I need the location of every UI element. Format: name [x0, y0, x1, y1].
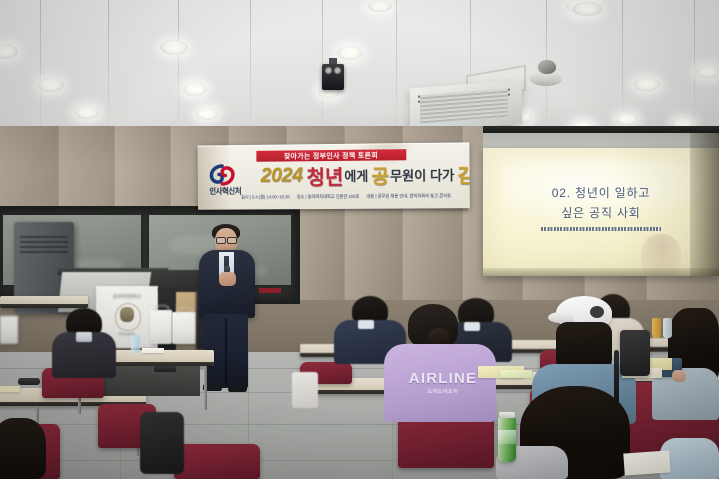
recessed-downlight: [196, 108, 218, 120]
ceiling-speaker: [538, 60, 556, 74]
screen-bottom-edge: [483, 268, 719, 276]
bottle-cap: [499, 412, 515, 418]
attendee-hand: [672, 370, 686, 382]
gift-bag-handle: [178, 307, 193, 314]
recessed-downlight: [160, 40, 188, 55]
banner-title-particle: 에게: [344, 165, 368, 184]
recessed-downlight: [75, 106, 99, 119]
bag-strap: [614, 350, 619, 406]
recessed-downlight: [0, 44, 18, 59]
banner-subtitle-text: 찾아가는 정부인사 정책 토론회: [284, 150, 378, 161]
ceiling-projector: [322, 64, 344, 90]
recessed-downlight: [616, 114, 638, 125]
attendee-collar: [76, 332, 92, 342]
banner-title-youth: 청년: [306, 160, 343, 189]
banner-title-gong: 공: [371, 161, 389, 188]
slide-title-line2: 싶은 공직 사회: [483, 204, 719, 221]
lecture-hall-photo: 찾아가는 정부인사 정책 토론회 2024 청년 에게 공 무원이 다가 감 일…: [0, 0, 719, 479]
banner-title-rest: 무원이 다가: [390, 164, 455, 184]
banner-title-gam: 감: [457, 160, 470, 187]
banner-title-year: 2024: [260, 164, 302, 187]
handout-paper: [500, 370, 532, 378]
drink-bottle: [663, 318, 672, 338]
banner-detail-content: 내용 | 공무원 채용 안내, 현직자와의 토크 콘서트: [366, 192, 451, 200]
gift-bag: [0, 316, 18, 344]
banner-details: 일시 | 5.4.(월) 14:00~15:30 장소 | 동덕여자대학교 인문…: [241, 191, 468, 202]
event-banner: 찾아가는 정부인사 정책 토론회 2024 청년 에게 공 무원이 다가 감 일…: [197, 142, 469, 209]
recessed-downlight: [337, 46, 363, 60]
handout-paper: [142, 348, 164, 353]
recessed-downlight: [696, 66, 719, 78]
presenter-shoe: [228, 385, 247, 392]
handbag: [620, 330, 650, 376]
jacket-text: AIRLINE: [402, 370, 484, 387]
smartphone: [154, 366, 176, 372]
recessed-downlight: [183, 83, 207, 96]
drink-bottle: [652, 318, 661, 338]
gift-bag: [150, 310, 172, 344]
org-name: 인사혁신처: [204, 185, 247, 197]
ceiling-speaker-skirt: [530, 72, 562, 86]
handout-paper: [0, 386, 20, 392]
recessed-downlight: [572, 2, 602, 16]
screen-housing: [483, 126, 719, 133]
banner-detail-datetime: 일시 | 5.4.(월) 14:00~15:30: [241, 193, 290, 200]
attendee-collar: [464, 322, 480, 331]
desk-leg: [204, 366, 207, 410]
recessed-downlight: [368, 0, 392, 12]
water-bottle: [131, 335, 140, 353]
bottle-label: [498, 430, 516, 444]
recessed-downlight: [38, 78, 64, 92]
backpack: [140, 412, 184, 474]
tote-bag: [292, 372, 318, 408]
jacket-subtext: 도어도어도어: [412, 388, 474, 395]
desk: [0, 296, 88, 308]
attendee-collar: [358, 320, 374, 329]
slide-title-line1: 02. 청년이 일하고: [483, 184, 719, 201]
banner-title: 2024 청년 에게 공 무원이 다가 감: [217, 159, 470, 190]
taegeuk-logo: [209, 164, 235, 186]
cap-back-hole: [590, 306, 604, 318]
chair: [174, 444, 260, 479]
trouser-seam: [225, 318, 227, 384]
ceiling: [0, 0, 719, 132]
university-crest-inner: [120, 307, 134, 322]
screen-side-wall: [690, 133, 719, 276]
gift-bag-handle: [155, 305, 169, 312]
banner-detail-place: 장소 | 동덕여자대학교 인문관 205호: [297, 193, 360, 200]
projection-screen: 02. 청년이 일하고 싶은 공직 사회: [483, 148, 719, 276]
glasses-icon: [216, 237, 236, 242]
gift-bag: [172, 312, 196, 344]
slide-caption-underline: [541, 227, 661, 231]
attendee-hair: [0, 418, 46, 479]
smartphone: [18, 378, 40, 385]
recessed-downlight: [634, 78, 660, 91]
presenter-hands: [219, 272, 236, 286]
standee-top-text: 동덕여자대학교: [100, 294, 154, 301]
handout-paper: [623, 450, 670, 475]
